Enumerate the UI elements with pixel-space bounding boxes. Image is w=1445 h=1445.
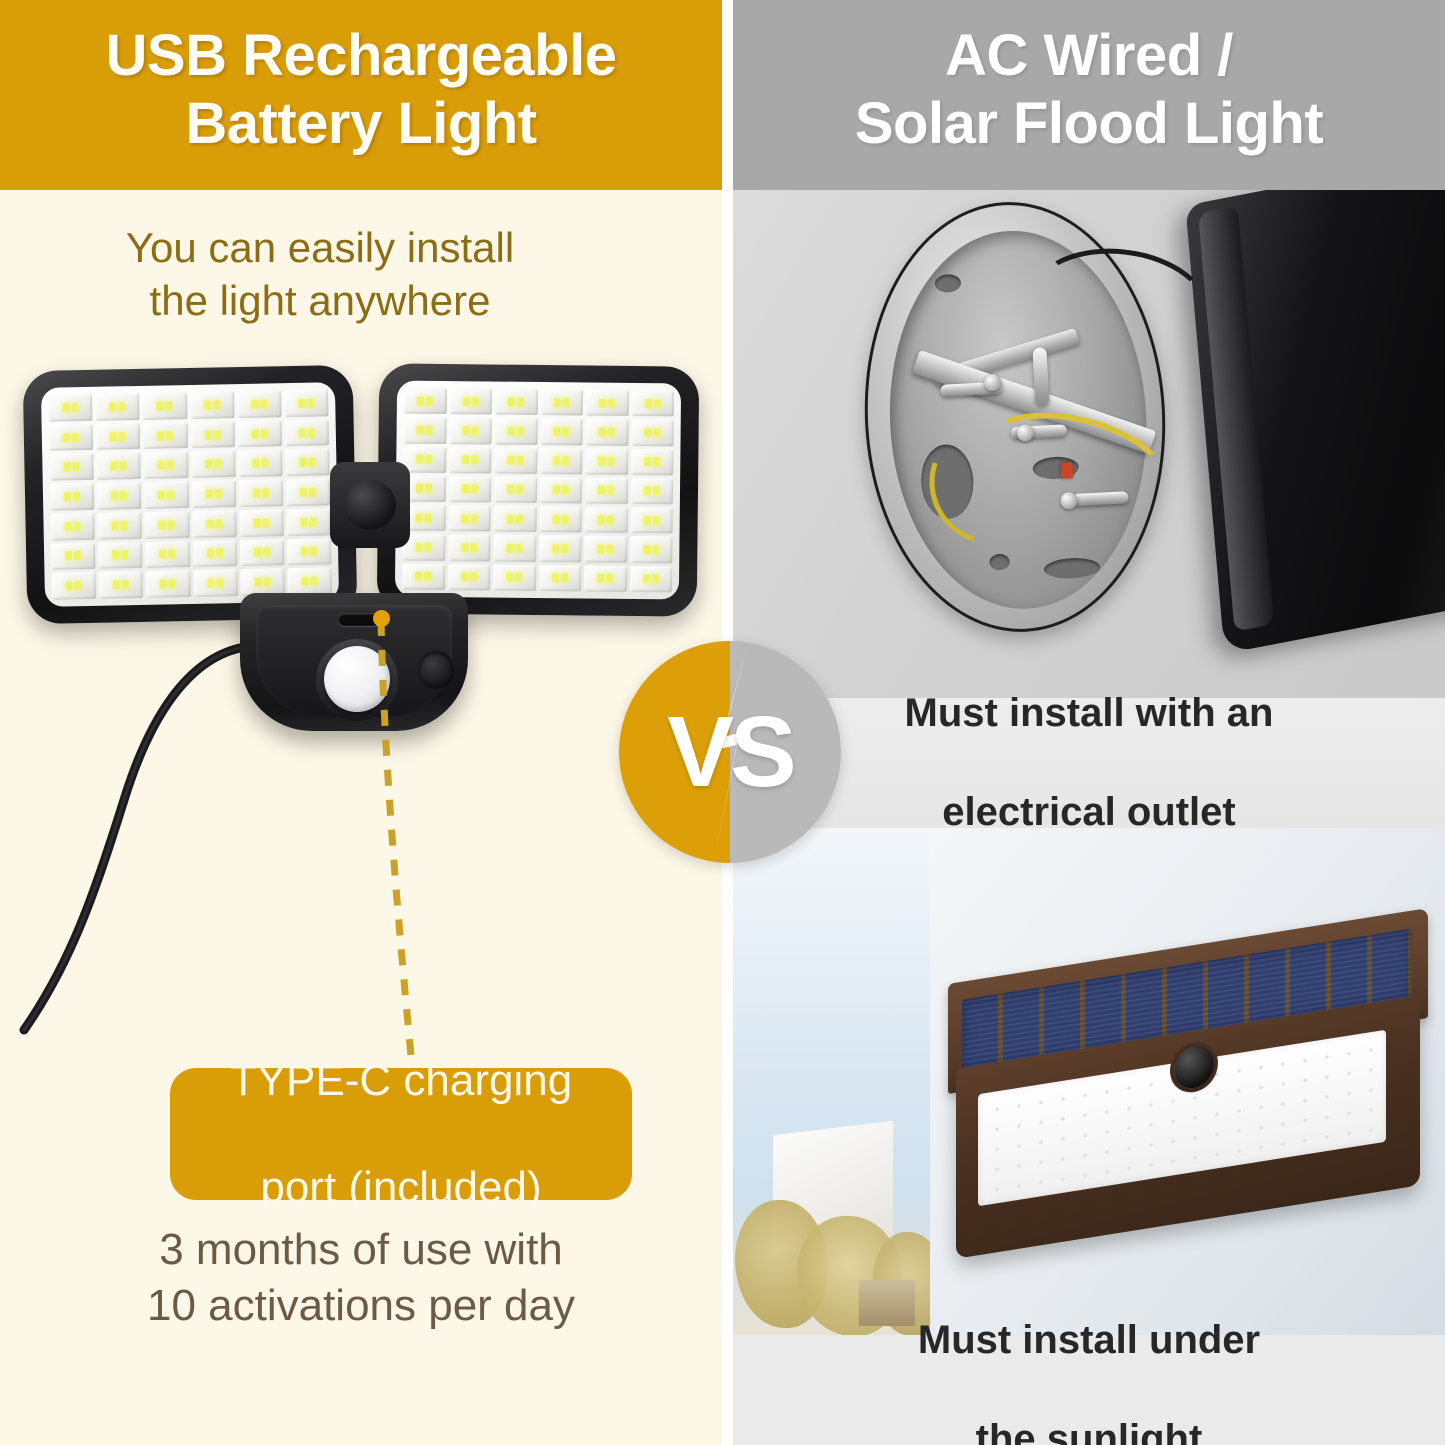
- left-header-title: USB Rechargeable Battery Light: [0, 22, 722, 159]
- led-chip: [507, 544, 514, 553]
- led-chip: [213, 430, 220, 439]
- led-chip: [168, 520, 175, 529]
- led-chip: [562, 427, 569, 436]
- led-chip: [417, 455, 424, 464]
- led-cell: [494, 506, 537, 533]
- knockout-slot-bottom: [1044, 557, 1101, 580]
- left-panel-usb-rechargeable: USB Rechargeable Battery Light You can e…: [0, 0, 722, 1445]
- led-cell: [99, 571, 144, 599]
- led-chip: [507, 485, 514, 494]
- led-cell: [96, 452, 141, 480]
- led-cell: [630, 478, 673, 505]
- led-chip: [72, 433, 79, 442]
- pir-motion-sensor-dome: [324, 646, 390, 712]
- led-chip: [599, 398, 606, 407]
- led-cell: [192, 540, 237, 568]
- vs-label: VS: [619, 641, 841, 863]
- wire-connector-red: [1060, 462, 1073, 479]
- led-cell: [585, 507, 628, 534]
- led-cell: [540, 418, 583, 445]
- led-chip: [654, 399, 661, 408]
- auxiliary-button: [418, 651, 454, 689]
- led-chip: [462, 455, 469, 464]
- led-chip: [608, 457, 615, 466]
- led-chip: [311, 577, 318, 586]
- led-cell: [49, 424, 94, 452]
- led-chip: [415, 572, 422, 581]
- led-chip: [254, 548, 261, 557]
- led-cell: [493, 564, 536, 591]
- led-chip: [652, 545, 659, 554]
- left-subtitle-line1: You can easily install: [126, 224, 514, 271]
- photo-solar-wall-light: [733, 828, 1445, 1335]
- led-cell: [285, 449, 330, 477]
- led-chip: [508, 397, 515, 406]
- led-chip: [112, 551, 119, 560]
- solar-wall-light-unit: [948, 946, 1428, 1246]
- led-chip: [109, 402, 116, 411]
- led-cell: [403, 446, 446, 473]
- led-chip: [643, 545, 650, 554]
- led-cell: [540, 448, 583, 475]
- led-chip: [122, 580, 129, 589]
- led-chip: [516, 515, 523, 524]
- left-footer-line2: 10 activations per day: [147, 1281, 575, 1330]
- led-chip: [417, 396, 424, 405]
- led-cell: [494, 447, 537, 474]
- led-cell: [539, 506, 582, 533]
- right-header-banner: AC Wired / Solar Flood Light: [733, 0, 1445, 190]
- led-cell: [240, 539, 285, 567]
- led-chip: [426, 455, 433, 464]
- led-chip: [653, 487, 660, 496]
- led-cell: [142, 392, 187, 420]
- caption-bottom-text: Must install under the sunlight: [918, 1316, 1260, 1445]
- led-cell: [97, 512, 142, 540]
- led-chip: [506, 573, 513, 582]
- led-cell: [540, 389, 583, 416]
- led-chip: [121, 551, 128, 560]
- led-cell: [190, 421, 235, 449]
- led-chip: [263, 548, 270, 557]
- led-cell: [286, 508, 331, 536]
- led-chip: [470, 543, 477, 552]
- led-chip: [261, 459, 268, 468]
- typec-badge-text: TYPE-C charging port (included): [230, 1054, 572, 1215]
- led-chip: [112, 521, 119, 530]
- led-chip: [597, 574, 604, 583]
- led-cell: [449, 388, 492, 415]
- led-cell: [238, 479, 283, 507]
- led-chip: [517, 456, 524, 465]
- led-chip: [157, 431, 164, 440]
- led-cell: [584, 536, 627, 563]
- led-cell: [448, 534, 491, 561]
- led-chip: [598, 515, 605, 524]
- led-chip: [253, 489, 260, 498]
- led-chip: [653, 428, 660, 437]
- left-header-title-line2: Battery Light: [185, 91, 536, 156]
- led-chip: [461, 573, 468, 582]
- led-cell: [145, 511, 190, 539]
- planter-box: [859, 1280, 915, 1326]
- led-panel-grid-left: [41, 382, 339, 607]
- led-chip: [204, 430, 211, 439]
- led-cell: [586, 389, 629, 416]
- led-chip: [253, 518, 260, 527]
- led-chip: [118, 402, 125, 411]
- led-cell: [237, 420, 282, 448]
- led-head-left: [23, 365, 358, 624]
- led-cell: [449, 417, 492, 444]
- led-chip: [299, 458, 306, 467]
- caption-bottom-line1: Must install under: [918, 1316, 1260, 1366]
- led-chip: [472, 397, 479, 406]
- led-chip: [262, 488, 269, 497]
- led-chip: [113, 580, 120, 589]
- led-cell: [50, 483, 95, 511]
- led-chip: [562, 486, 569, 495]
- led-chip: [553, 427, 560, 436]
- led-cell: [240, 568, 285, 596]
- led-cell: [191, 451, 236, 479]
- led-chip: [71, 403, 78, 412]
- led-cell: [631, 390, 674, 417]
- led-chip: [166, 401, 173, 410]
- led-chip: [119, 432, 126, 441]
- led-cell: [494, 476, 537, 503]
- knockout-hole-top: [934, 274, 961, 293]
- led-chip: [561, 574, 568, 583]
- led-cell: [631, 449, 674, 476]
- led-cell: [96, 423, 141, 451]
- led-chip: [308, 458, 315, 467]
- led-chip: [63, 433, 70, 442]
- led-chip: [158, 490, 165, 499]
- typec-charging-badge: TYPE-C charging port (included): [170, 1068, 632, 1200]
- junction-box-interior: [880, 224, 1155, 615]
- led-chip: [417, 426, 424, 435]
- led-chip: [645, 399, 652, 408]
- led-chip: [166, 431, 173, 440]
- led-chip: [64, 492, 71, 501]
- led-cell: [495, 389, 538, 416]
- led-chip: [471, 426, 478, 435]
- led-chip: [461, 543, 468, 552]
- caption-bottom-line2: the sunlight: [918, 1415, 1260, 1445]
- led-chip: [644, 457, 651, 466]
- led-cell: [237, 390, 282, 418]
- led-cell: [190, 391, 235, 419]
- led-chip: [205, 490, 212, 499]
- led-chip: [516, 544, 523, 553]
- led-chip: [167, 461, 174, 470]
- led-chip: [204, 400, 211, 409]
- led-chip: [206, 519, 213, 528]
- led-chip: [644, 487, 651, 496]
- led-cell: [448, 505, 491, 532]
- led-cell: [449, 447, 492, 474]
- led-cell: [98, 541, 143, 569]
- led-panel-grid-right: [395, 381, 681, 600]
- led-chip: [424, 572, 431, 581]
- led-cell: [51, 542, 96, 570]
- led-chip: [561, 515, 568, 524]
- led-chip: [214, 489, 221, 498]
- led-chip: [643, 516, 650, 525]
- knockout-hole-bottom: [989, 553, 1010, 570]
- led-chip: [157, 401, 164, 410]
- led-chip: [598, 486, 605, 495]
- led-cell: [51, 572, 96, 600]
- led-chip: [607, 545, 614, 554]
- led-chip: [216, 579, 223, 588]
- led-chip: [599, 428, 606, 437]
- led-chip: [515, 573, 522, 582]
- led-chip: [262, 518, 269, 527]
- led-cell: [585, 448, 628, 475]
- led-chip: [254, 578, 261, 587]
- led-chip: [263, 578, 270, 587]
- led-chip: [462, 426, 469, 435]
- sky-background: [733, 828, 930, 1335]
- led-chip: [205, 460, 212, 469]
- led-chip: [470, 514, 477, 523]
- led-chip: [159, 550, 166, 559]
- led-chip: [308, 428, 315, 437]
- led-chip: [214, 460, 221, 469]
- led-chip: [111, 491, 118, 500]
- led-chip: [608, 428, 615, 437]
- mounting-stud-upper: [1032, 347, 1049, 406]
- led-head-right: [377, 363, 700, 616]
- led-chip: [426, 396, 433, 405]
- led-chip: [426, 426, 433, 435]
- led-chip: [507, 514, 514, 523]
- led-chip: [425, 543, 432, 552]
- led-chip: [207, 549, 214, 558]
- led-chip: [463, 397, 470, 406]
- led-cell: [146, 570, 191, 598]
- led-chip: [160, 580, 167, 589]
- led-chip: [310, 547, 317, 556]
- led-cell: [284, 419, 329, 447]
- led-cell: [493, 535, 536, 562]
- comparison-infographic: USB Rechargeable Battery Light You can e…: [0, 0, 1445, 1445]
- led-chip: [120, 461, 127, 470]
- led-chip: [554, 398, 561, 407]
- led-chip: [74, 522, 81, 531]
- led-chip: [461, 514, 468, 523]
- led-chip: [302, 577, 309, 586]
- usb-port-marker-dot: [373, 610, 390, 627]
- led-chip: [652, 516, 659, 525]
- led-cell: [584, 565, 627, 592]
- left-footer-line1: 3 months of use with: [159, 1225, 563, 1274]
- led-cell: [49, 453, 94, 481]
- led-cell: [448, 476, 491, 503]
- led-chip: [608, 398, 615, 407]
- led-chip: [260, 429, 267, 438]
- black-light-fixture: [1185, 190, 1445, 654]
- led-cell: [287, 538, 332, 566]
- led-cell: [192, 510, 237, 538]
- led-chip: [599, 457, 606, 466]
- led-cell: [447, 564, 490, 591]
- led-chip: [563, 398, 570, 407]
- led-chip: [607, 486, 614, 495]
- led-chip: [462, 485, 469, 494]
- led-cell: [144, 481, 189, 509]
- led-chip: [552, 515, 559, 524]
- led-cell: [629, 566, 672, 593]
- led-chip: [644, 428, 651, 437]
- led-chip: [425, 514, 432, 523]
- led-chip: [216, 549, 223, 558]
- led-chip: [74, 552, 81, 561]
- right-header-title-line1: AC Wired /: [945, 23, 1233, 88]
- led-cell: [494, 418, 537, 445]
- caption-top-line1: Must install with an: [905, 689, 1274, 739]
- led-chip: [416, 543, 423, 552]
- led-chip: [552, 573, 559, 582]
- led-chip: [425, 484, 432, 493]
- led-cell: [50, 513, 95, 541]
- led-chip: [66, 581, 73, 590]
- led-cell: [145, 541, 190, 569]
- led-cell: [538, 565, 581, 592]
- led-chip: [73, 492, 80, 501]
- led-chip: [110, 432, 117, 441]
- led-cell: [95, 393, 140, 421]
- led-chip: [606, 574, 613, 583]
- led-chip: [552, 544, 559, 553]
- led-chip: [553, 456, 560, 465]
- led-chip: [471, 456, 478, 465]
- led-chip: [300, 517, 307, 526]
- led-chip: [65, 552, 72, 561]
- led-cell: [287, 568, 332, 596]
- led-cell: [585, 419, 628, 446]
- photo-electrical-junction-box: [733, 190, 1445, 698]
- typec-badge-line1: TYPE-C charging: [230, 1054, 572, 1108]
- led-chip: [251, 400, 258, 409]
- led-chip: [517, 427, 524, 436]
- led-cell: [403, 417, 446, 444]
- led-cell: [631, 419, 674, 446]
- led-chip: [168, 550, 175, 559]
- led-chip: [260, 399, 267, 408]
- right-header-title: AC Wired / Solar Flood Light: [733, 22, 1445, 159]
- led-chip: [517, 397, 524, 406]
- led-chip: [416, 514, 423, 523]
- led-cell: [238, 450, 283, 478]
- led-chip: [215, 519, 222, 528]
- led-chip: [598, 545, 605, 554]
- vs-badge: VS: [619, 641, 841, 863]
- led-chip: [471, 485, 478, 494]
- led-chip: [561, 544, 568, 553]
- led-cell: [539, 535, 582, 562]
- led-cell: [630, 536, 673, 563]
- led-cell: [239, 509, 284, 537]
- led-chip: [309, 488, 316, 497]
- led-chip: [562, 456, 569, 465]
- led-chip: [307, 398, 314, 407]
- led-chip: [158, 461, 165, 470]
- led-cell: [539, 477, 582, 504]
- junction-box-assembly: [865, 202, 1215, 642]
- caption-top-text: Must install with an electrical outlet: [905, 689, 1274, 838]
- led-chip: [252, 459, 259, 468]
- led-chip: [652, 575, 659, 584]
- led-cell: [48, 394, 93, 422]
- led-cell: [144, 451, 189, 479]
- led-chip: [508, 427, 515, 436]
- led-chip: [120, 491, 127, 500]
- left-subtitle: You can easily install the light anywher…: [0, 222, 640, 327]
- led-cell: [97, 482, 142, 510]
- led-chip: [62, 403, 69, 412]
- led-chip: [470, 573, 477, 582]
- led-chip: [63, 463, 70, 472]
- led-chip: [309, 517, 316, 526]
- led-cell: [630, 507, 673, 534]
- led-chip: [159, 520, 166, 529]
- led-chip: [72, 462, 79, 471]
- led-chip: [75, 581, 82, 590]
- led-chip: [299, 428, 306, 437]
- light-body-housing: [240, 593, 468, 731]
- left-subtitle-line2: the light anywhere: [150, 277, 491, 324]
- light-hinge-joint: [330, 462, 410, 548]
- led-chip: [553, 486, 560, 495]
- led-cell: [143, 422, 188, 450]
- round-junction-box: [854, 194, 1176, 639]
- left-header-banner: USB Rechargeable Battery Light: [0, 0, 722, 190]
- left-footer-caption: 3 months of use with 10 activations per …: [61, 1222, 661, 1334]
- led-cell: [585, 477, 628, 504]
- led-chip: [213, 400, 220, 409]
- left-header-title-line1: USB Rechargeable: [106, 23, 617, 88]
- led-chip: [121, 521, 128, 530]
- led-chip: [653, 457, 660, 466]
- led-chip: [508, 456, 515, 465]
- led-chip: [607, 516, 614, 525]
- led-chip: [65, 522, 72, 531]
- led-chip: [301, 547, 308, 556]
- caption-band-bottom: Must install under the sunlight: [733, 1335, 1445, 1445]
- led-cell: [191, 480, 236, 508]
- led-cell: [193, 569, 238, 597]
- led-chip: [251, 429, 258, 438]
- led-chip: [111, 462, 118, 471]
- led-chip: [300, 488, 307, 497]
- led-chip: [169, 579, 176, 588]
- led-chip: [416, 484, 423, 493]
- led-chip: [167, 490, 174, 499]
- right-header-title-line2: Solar Flood Light: [855, 91, 1323, 156]
- led-chip: [643, 574, 650, 583]
- led-chip: [516, 485, 523, 494]
- led-cell: [404, 388, 447, 415]
- led-cell: [402, 563, 445, 590]
- led-cell: [284, 389, 329, 417]
- product-led-flood-light: [0, 350, 722, 770]
- led-chip: [298, 399, 305, 408]
- led-cell: [286, 478, 331, 506]
- typec-badge-line2: port (included): [230, 1161, 572, 1215]
